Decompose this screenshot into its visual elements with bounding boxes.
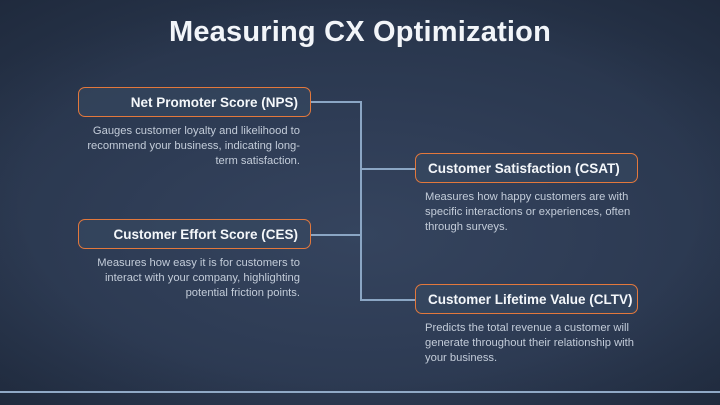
node-label-csat[interactable]: Customer Satisfaction (CSAT) [415,153,638,183]
node-description-nps: Gauges customer loyalty and likelihood t… [78,124,311,170]
page-title: Measuring CX Optimization [0,16,720,49]
slide-canvas: Measuring CX Optimization Net Promoter S… [0,0,720,405]
connector-cltv-horizontal [360,299,415,301]
connector-csat-horizontal [360,168,415,170]
connector-ces-horizontal [311,234,361,236]
node-label-nps[interactable]: Net Promoter Score (NPS) [78,87,311,117]
node-net-promoter-score[interactable]: Net Promoter Score (NPS) Gauges customer… [78,87,311,170]
node-label-cltv[interactable]: Customer Lifetime Value (CLTV) [415,284,638,314]
node-label-ces[interactable]: Customer Effort Score (CES) [78,219,311,249]
node-description-ces: Measures how easy it is for customers to… [78,256,311,302]
footer-divider [0,391,720,393]
node-customer-satisfaction[interactable]: Customer Satisfaction (CSAT) Measures ho… [415,153,638,236]
node-customer-effort-score[interactable]: Customer Effort Score (CES) Measures how… [78,219,311,302]
connector-trunk-vertical [360,101,362,300]
node-description-cltv: Predicts the total revenue a customer wi… [415,321,638,367]
connector-nps-horizontal [311,101,361,103]
node-description-csat: Measures how happy customers are with sp… [415,190,638,236]
node-customer-lifetime-value[interactable]: Customer Lifetime Value (CLTV) Predicts … [415,284,638,367]
